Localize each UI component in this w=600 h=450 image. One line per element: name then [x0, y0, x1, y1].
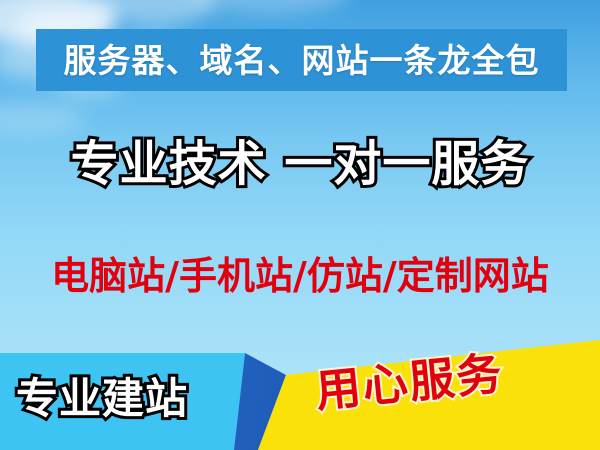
cloud-decoration — [0, 104, 84, 134]
services-list-text: 电脑站/手机站/仿站/定制网站 — [0, 257, 600, 295]
bottom-ribbon: 专业建站 用心服务 — [0, 330, 600, 450]
subheadline-text: 专业技术 一对一服务 — [0, 140, 600, 188]
headline-band: 服务器、域名、网站一条龙全包 — [36, 29, 567, 91]
headline-band-text: 服务器、域名、网站一条龙全包 — [64, 44, 540, 77]
promo-poster: 服务器、域名、网站一条龙全包 专业技术 一对一服务 电脑站/手机站/仿站/定制网… — [0, 0, 600, 450]
cloud-decoration — [190, 0, 350, 14]
ribbon-left-label: 专业建站 — [16, 378, 188, 420]
cloud-decoration — [96, 0, 216, 24]
